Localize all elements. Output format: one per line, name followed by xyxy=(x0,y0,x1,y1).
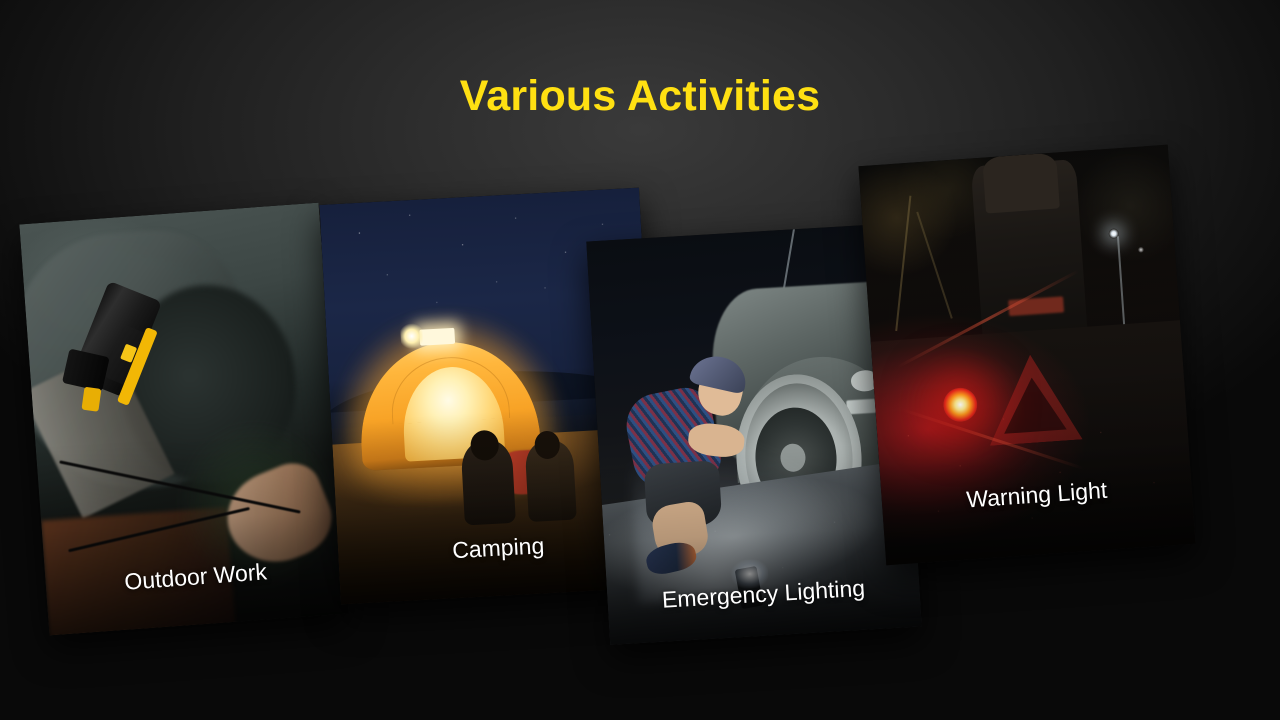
card-vignette xyxy=(36,424,349,635)
activity-card-outdoor-work[interactable]: Outdoor Work xyxy=(19,203,348,636)
activity-card-warning-light[interactable]: Warning Light xyxy=(858,145,1195,566)
lantern-light-icon xyxy=(419,328,455,346)
street-lamp-light-distant xyxy=(1138,247,1144,253)
card-vignette xyxy=(873,360,1195,565)
page-title: Various Activities xyxy=(0,72,1280,121)
truck-cab-shape xyxy=(982,152,1060,213)
slide-canvas: Various Activities Outdoor Work xyxy=(0,0,1280,720)
lens-flare xyxy=(400,322,424,351)
work-light-clamp-grip xyxy=(82,387,102,412)
